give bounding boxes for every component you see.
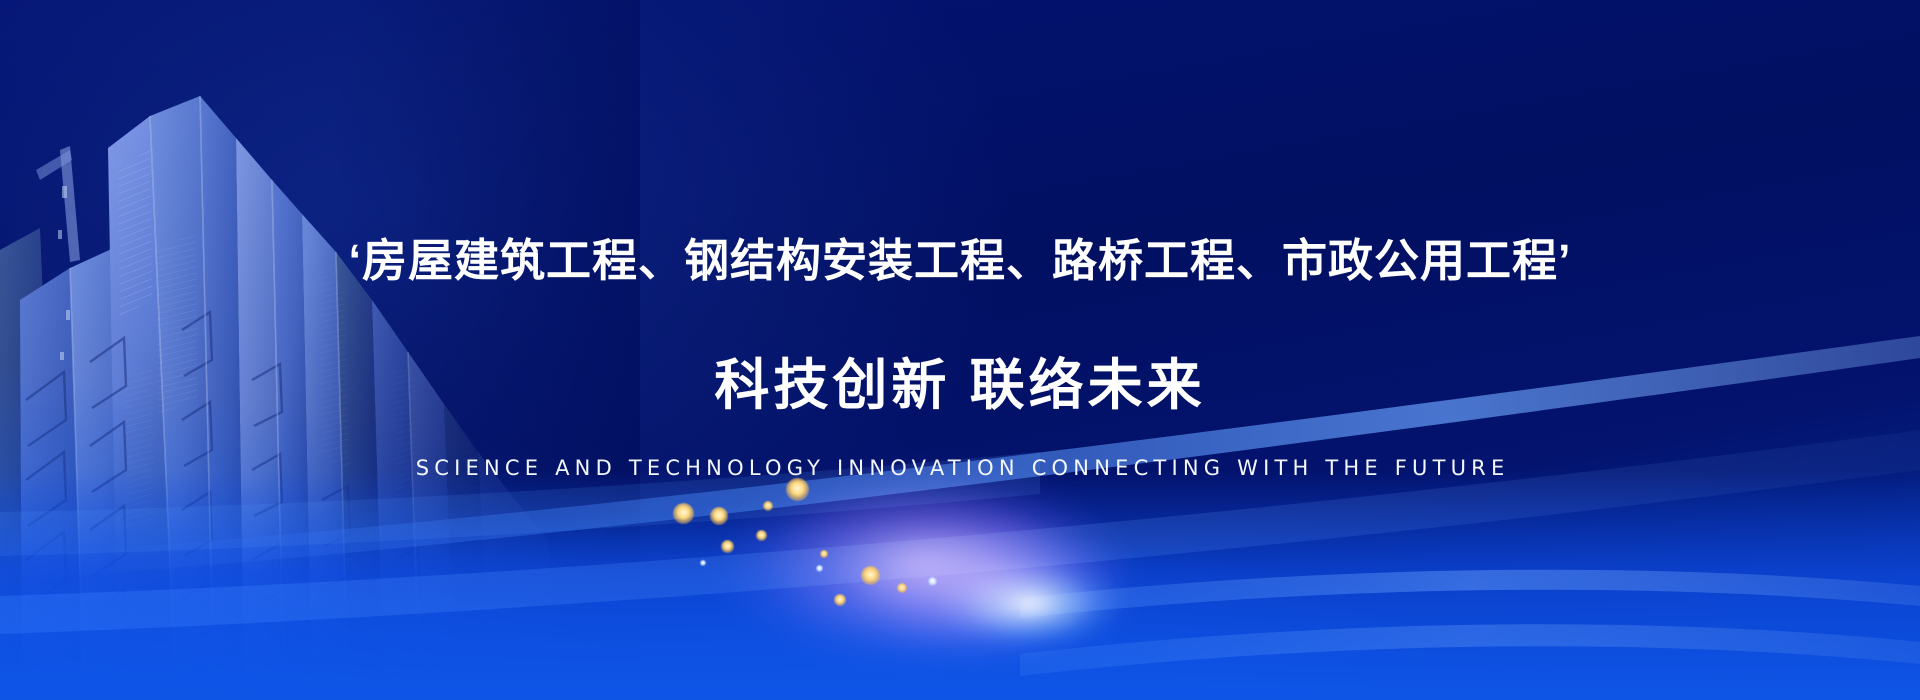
banner-headline: ‘房屋建筑工程、钢结构安装工程、路桥工程、市政公用工程’ xyxy=(0,238,1920,283)
banner-subline: 科技创新 联络未来 xyxy=(0,358,1920,413)
banner-tagline: SCIENCE AND TECHNOLOGY INNOVATION CONNEC… xyxy=(0,458,1920,479)
hero-banner: ‘房屋建筑工程、钢结构安装工程、路桥工程、市政公用工程’ 科技创新 联络未来 S… xyxy=(0,0,1920,700)
bright-core-glow xyxy=(880,540,1180,700)
